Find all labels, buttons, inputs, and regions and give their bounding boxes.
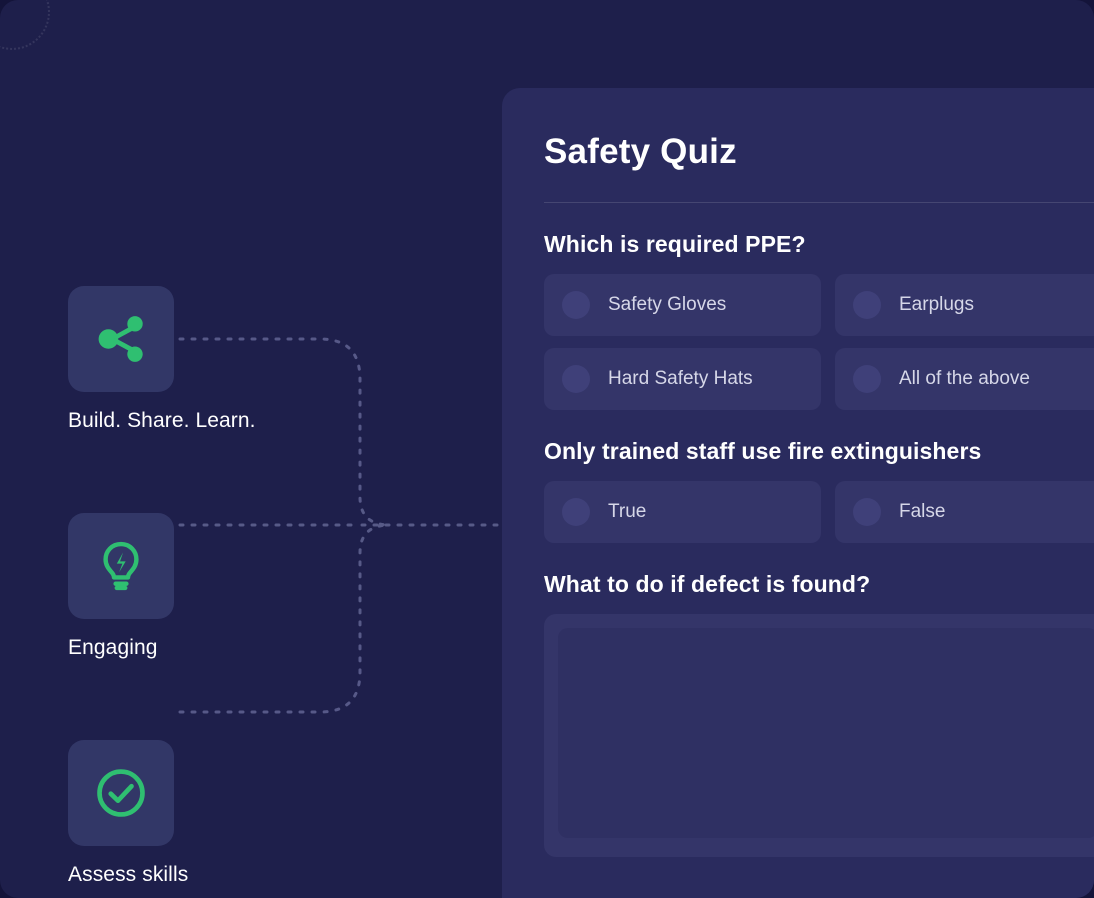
- option-label: Earplugs: [899, 294, 974, 316]
- feature-label: Assess skills: [68, 862, 368, 887]
- question-block-2: Only trained staff use fire extinguisher…: [544, 438, 1094, 543]
- radio-icon[interactable]: [562, 365, 590, 393]
- feature-label: Engaging: [68, 635, 368, 660]
- title-divider: [544, 202, 1094, 203]
- question-block-1: Which is required PPE? Safety Gloves Ear…: [544, 231, 1094, 410]
- option-earplugs[interactable]: Earplugs: [835, 274, 1094, 336]
- question-prompt: Which is required PPE?: [544, 231, 1094, 258]
- question-prompt: Only trained staff use fire extinguisher…: [544, 438, 1094, 465]
- feature-item-engaging[interactable]: Engaging: [68, 513, 368, 660]
- option-label: True: [608, 501, 646, 523]
- feature-item-assess-skills[interactable]: Assess skills: [68, 740, 368, 887]
- question-prompt: What to do if defect is found?: [544, 571, 1094, 598]
- decorative-dotted-arc: [0, 0, 50, 50]
- radio-icon[interactable]: [853, 291, 881, 319]
- radio-icon[interactable]: [853, 498, 881, 526]
- option-true[interactable]: True: [544, 481, 821, 543]
- option-label: Safety Gloves: [608, 294, 726, 316]
- feature-tile: [68, 286, 174, 392]
- feature-item-build-share-learn[interactable]: Build. Share. Learn.: [68, 286, 368, 433]
- option-safety-gloves[interactable]: Safety Gloves: [544, 274, 821, 336]
- option-label: False: [899, 501, 945, 523]
- check-circle-icon: [93, 765, 149, 821]
- option-all-of-the-above[interactable]: All of the above: [835, 348, 1094, 410]
- question-block-3: What to do if defect is found?: [544, 571, 1094, 857]
- radio-icon[interactable]: [562, 291, 590, 319]
- option-label: Hard Safety Hats: [608, 368, 753, 390]
- answer-container: [544, 614, 1094, 857]
- page-title: Safety Quiz: [544, 132, 1094, 172]
- options-grid: Safety Gloves Earplugs Hard Safety Hats …: [544, 274, 1094, 410]
- share-icon: [93, 311, 149, 367]
- options-grid: True False: [544, 481, 1094, 543]
- radio-icon[interactable]: [853, 365, 881, 393]
- quiz-card: Safety Quiz Which is required PPE? Safet…: [502, 88, 1094, 898]
- option-false[interactable]: False: [835, 481, 1094, 543]
- feature-tile: [68, 740, 174, 846]
- radio-icon[interactable]: [562, 498, 590, 526]
- lightbulb-bolt-icon: [93, 538, 149, 594]
- option-hard-safety-hats[interactable]: Hard Safety Hats: [544, 348, 821, 410]
- free-text-answer-input[interactable]: [558, 628, 1094, 838]
- app-canvas: Build. Share. Learn. Engaging: [0, 0, 1094, 898]
- feature-label: Build. Share. Learn.: [68, 408, 368, 433]
- feature-tile: [68, 513, 174, 619]
- feature-rail: Build. Share. Learn. Engaging: [68, 286, 368, 888]
- option-label: All of the above: [899, 368, 1030, 390]
